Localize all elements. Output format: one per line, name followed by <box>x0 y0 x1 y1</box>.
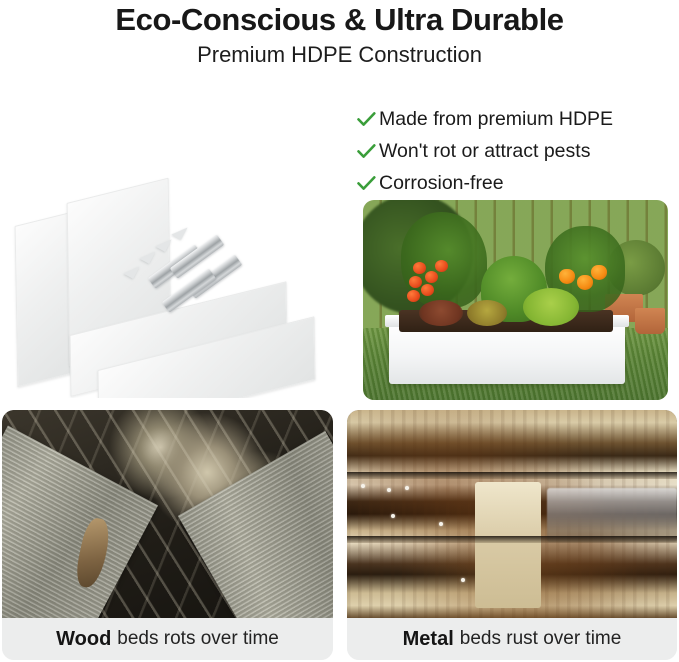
corrosion-speck <box>439 522 443 526</box>
check-icon <box>357 106 379 133</box>
metal-bed-photo <box>347 410 677 618</box>
header: Eco-Conscious & Ultra Durable Premium HD… <box>0 0 679 68</box>
feature-label: Corrosion-free <box>379 170 504 197</box>
corrosion-speck <box>391 514 395 518</box>
page-title: Eco-Conscious & Ultra Durable <box>0 0 679 38</box>
corner-triangle-icon <box>171 222 187 240</box>
tomato-fruit <box>425 271 438 283</box>
feature-label: Made from premium HDPE <box>379 106 613 133</box>
lettuce-plant <box>523 288 579 326</box>
bare-metal-highlight <box>547 488 677 542</box>
metal-caption: Metal beds rust over time <box>347 618 677 660</box>
feature-label: Won't rot or attract pests <box>379 138 590 165</box>
corrosion-speck <box>361 484 365 488</box>
caption-rest: beds rust over time <box>460 628 622 650</box>
pepper-fruit <box>591 265 607 280</box>
comparison-card-wood: Wood beds rots over time <box>2 410 333 660</box>
tomato-fruit <box>413 262 426 274</box>
panel-seam <box>347 472 677 479</box>
corrosion-speck <box>405 486 409 490</box>
feature-item: Corrosion-free <box>357 170 677 197</box>
metal-scene <box>347 410 677 618</box>
tomato-fruit <box>407 290 420 302</box>
tomato-fruit <box>409 276 422 288</box>
tomato-fruit <box>435 260 448 272</box>
corrosion-speck <box>387 488 391 492</box>
feature-list: Made from premium HDPE Won't rot or attr… <box>357 106 677 202</box>
wood-scene <box>2 410 333 618</box>
red-lettuce-plant <box>419 300 463 326</box>
feature-item: Made from premium HDPE <box>357 106 677 133</box>
caption-strong: Metal <box>403 628 454 651</box>
feature-item: Won't rot or attract pests <box>357 138 677 165</box>
pepper-fruit <box>559 269 575 284</box>
check-icon <box>357 170 379 197</box>
parts-photo <box>8 108 348 398</box>
corrosion-speck <box>461 578 465 582</box>
wood-bed-photo <box>2 410 333 618</box>
page-subtitle: Premium HDPE Construction <box>0 38 679 68</box>
tomato-fruit <box>421 284 434 296</box>
wood-caption: Wood beds rots over time <box>2 618 333 660</box>
check-icon <box>357 138 379 165</box>
caption-rest: beds rots over time <box>117 628 279 650</box>
caption-strong: Wood <box>56 628 111 651</box>
lettuce-plant <box>467 300 507 326</box>
panel-seam <box>347 536 677 543</box>
comparison-card-metal: Metal beds rust over time <box>347 410 677 660</box>
terracotta-pot <box>635 308 665 334</box>
garden-bed-photo <box>363 200 668 400</box>
pepper-fruit <box>577 275 593 290</box>
rust-patch <box>475 482 541 608</box>
